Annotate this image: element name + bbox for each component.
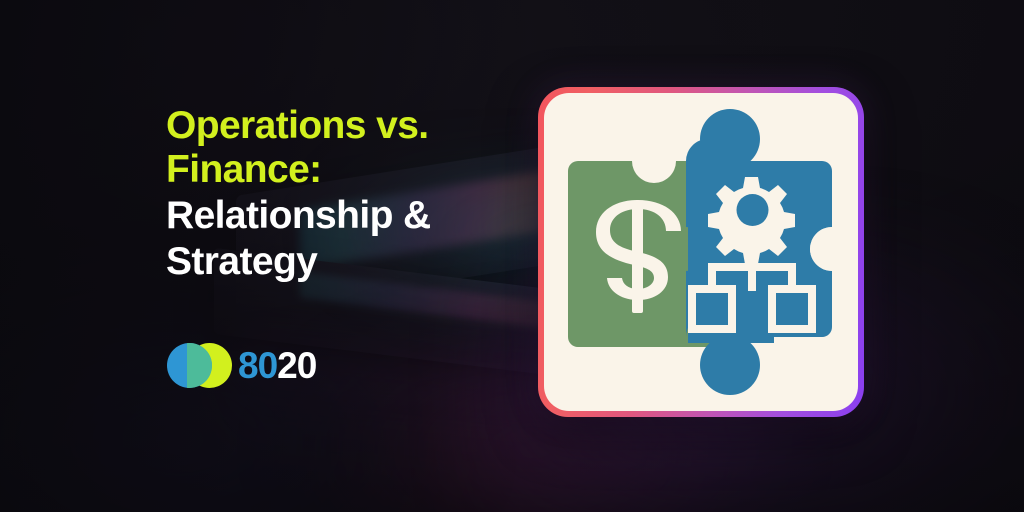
brand-wordmark-80: 80 [238,345,277,387]
puzzle-illustration [560,109,842,395]
headline-line-4: Strategy [166,240,496,284]
operations-piece-top-knob [700,109,760,169]
illustration-card-inner [544,93,858,411]
operations-piece-bottom-knob [700,335,760,395]
illustration-card [538,87,864,417]
brand-wordmark-20: 20 [277,345,316,387]
slide-canvas: Operations vs. Finance: Relationship & S… [0,0,1024,512]
headline-line-1: Operations vs. [166,104,496,148]
background-vignette [0,0,1024,512]
headline-block: Operations vs. Finance: Relationship & S… [166,104,496,284]
brand-wordmark: 80 20 [238,345,316,387]
brand-logo: 80 20 [167,341,316,391]
background-base [0,0,1024,512]
headline-line-3: Relationship & [166,194,496,238]
headline-line-2: Finance: [166,148,496,192]
background-glow-indigo [0,300,440,512]
two-circles-logo-icon [167,341,225,391]
